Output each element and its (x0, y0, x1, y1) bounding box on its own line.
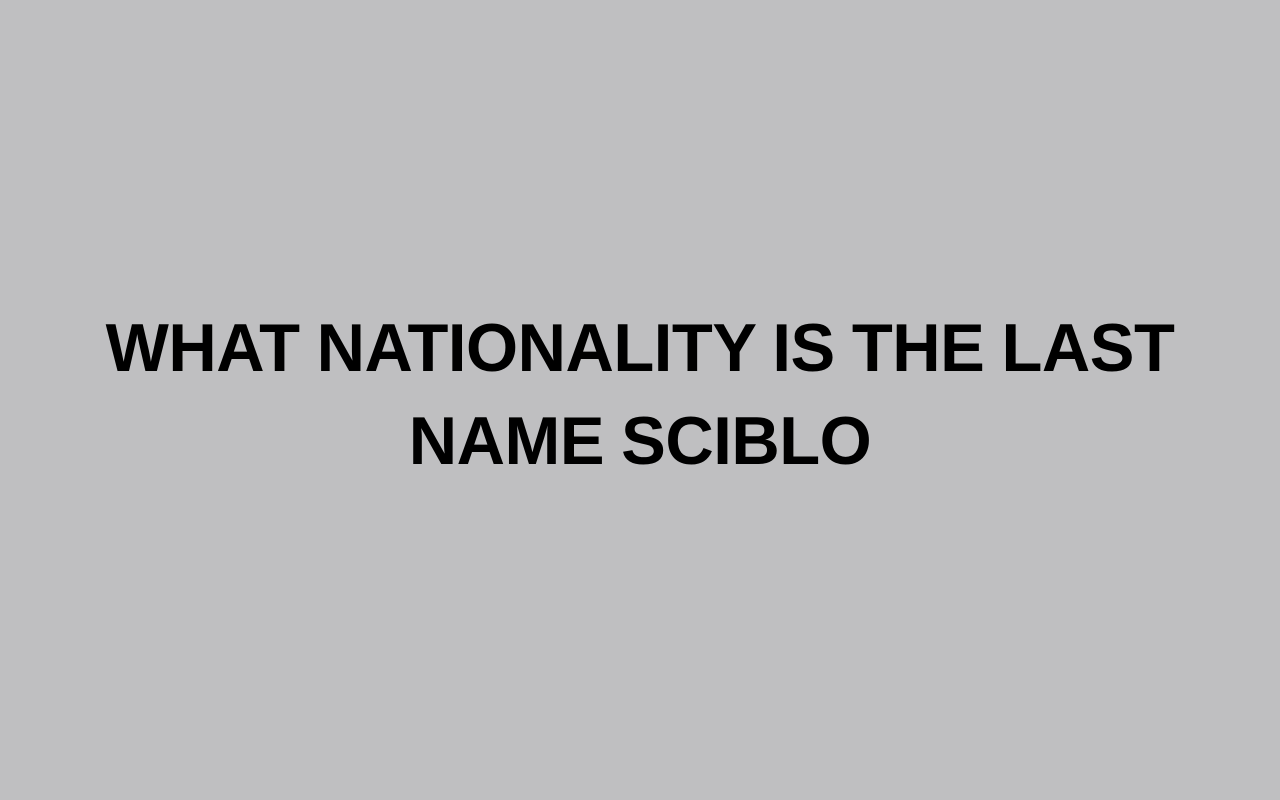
headline-block: WHAT NATIONALITY IS THE LAST NAME SCIBLO (0, 302, 1280, 488)
page-title: WHAT NATIONALITY IS THE LAST NAME SCIBLO (16, 302, 1265, 488)
page-root: WHAT NATIONALITY IS THE LAST NAME SCIBLO (0, 0, 1280, 800)
